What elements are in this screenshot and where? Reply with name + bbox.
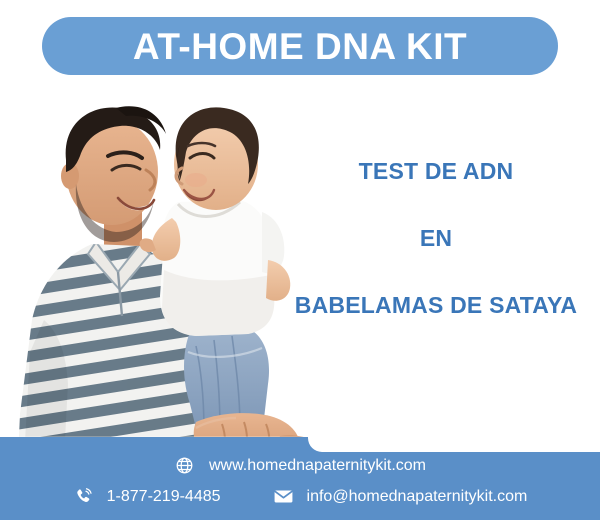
footer-website-row: www.homednapaternitykit.com [0,455,600,476]
title-banner: AT-HOME DNA KIT [42,17,558,75]
poster-canvas: AT-HOME DNA KIT [0,0,600,520]
footer-bar-notch [308,437,600,452]
family-photo [0,84,318,459]
email-text[interactable]: info@homednapaternitykit.com [307,489,528,505]
globe-icon [174,455,195,476]
headline-line-2: EN [286,227,586,250]
phone-text[interactable]: 1-877-219-4485 [107,489,221,505]
headline-line-3: BABELAMAS DE SATAYA [286,294,586,317]
website-text[interactable]: www.homednapaternitykit.com [209,458,426,474]
phone-group: 1-877-219-4485 [73,486,221,507]
envelope-icon [273,486,294,507]
contact-spacer [231,496,263,497]
headline-block: TEST DE ADN EN BABELAMAS DE SATAYA [286,160,586,317]
headline-line-1: TEST DE ADN [286,160,586,183]
email-group: info@homednapaternitykit.com [273,486,528,507]
footer-contact-row: 1-877-219-4485 info@homednapaternitykit.… [0,486,600,507]
phone-icon [73,486,94,507]
title-banner-text: AT-HOME DNA KIT [133,28,467,65]
